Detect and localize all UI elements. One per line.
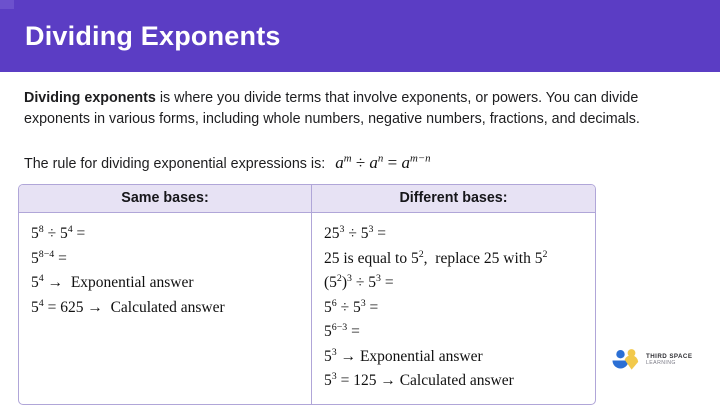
header-corner-notch [0,0,14,9]
table-header-same-bases: Same bases: [19,185,311,212]
intro-paragraph: Dividing exponents is where you divide t… [24,88,702,130]
rule-line: The rule for dividing exponential expres… [24,153,431,174]
page-title: Dividing Exponents [25,23,281,50]
table-cell-different-bases: 253 ÷ 53 =25 is equal to 52, replace 25 … [311,213,595,404]
table-header-different-bases: Different bases: [311,185,595,212]
rule-formula-equals-sign: = [388,153,398,172]
rule-formula-divide-sign: ÷ [356,153,365,172]
table-body-row: 58 ÷ 54 =58−4 =54 → Exponential answer54… [19,213,595,404]
rule-label: The rule for dividing exponential expres… [24,154,325,174]
rule-formula-base-1: a [335,153,344,172]
rule-formula: am ÷ an = am−n [335,153,430,173]
slide-root: Dividing Exponents Dividing exponents is… [0,0,720,407]
math-line: 53 → Exponential answer [324,345,595,370]
slide-header: Dividing Exponents [0,0,720,72]
rule-formula-exp-1: m [344,152,352,164]
logo-figures-icon [611,349,641,372]
rule-formula-exp-2: n [378,152,383,164]
table-cell-same-bases: 58 ÷ 54 =58−4 =54 → Exponential answer54… [19,213,311,404]
math-line: 58 ÷ 54 = [31,222,311,247]
math-line: 54 = 625 → Calculated answer [31,296,311,321]
math-line: 56 ÷ 53 = [324,296,595,321]
rule-formula-base-2: a [369,153,378,172]
math-line: 56−3 = [324,320,595,345]
math-line: 53 = 125 → Calculated answer [324,369,595,394]
math-line: 58−4 = [31,247,311,272]
math-line: 25 is equal to 52, replace 25 with 52 [324,247,595,272]
examples-table: Same bases: Different bases: 58 ÷ 54 =58… [18,184,596,405]
rule-formula-base-3: a [401,153,410,172]
math-line: (52)3 ÷ 53 = [324,271,595,296]
math-line: 54 → Exponential answer [31,271,311,296]
math-line: 253 ÷ 53 = [324,222,595,247]
rule-formula-exp-3: m−n [410,152,431,164]
logo-wordmark: THIRD SPACE LEARNING [646,354,692,367]
third-space-learning-logo: THIRD SPACE LEARNING [611,349,692,372]
logo-line-2: LEARNING [646,361,692,367]
intro-bold-lead: Dividing exponents [24,90,156,106]
table-header-row: Same bases: Different bases: [19,185,595,213]
